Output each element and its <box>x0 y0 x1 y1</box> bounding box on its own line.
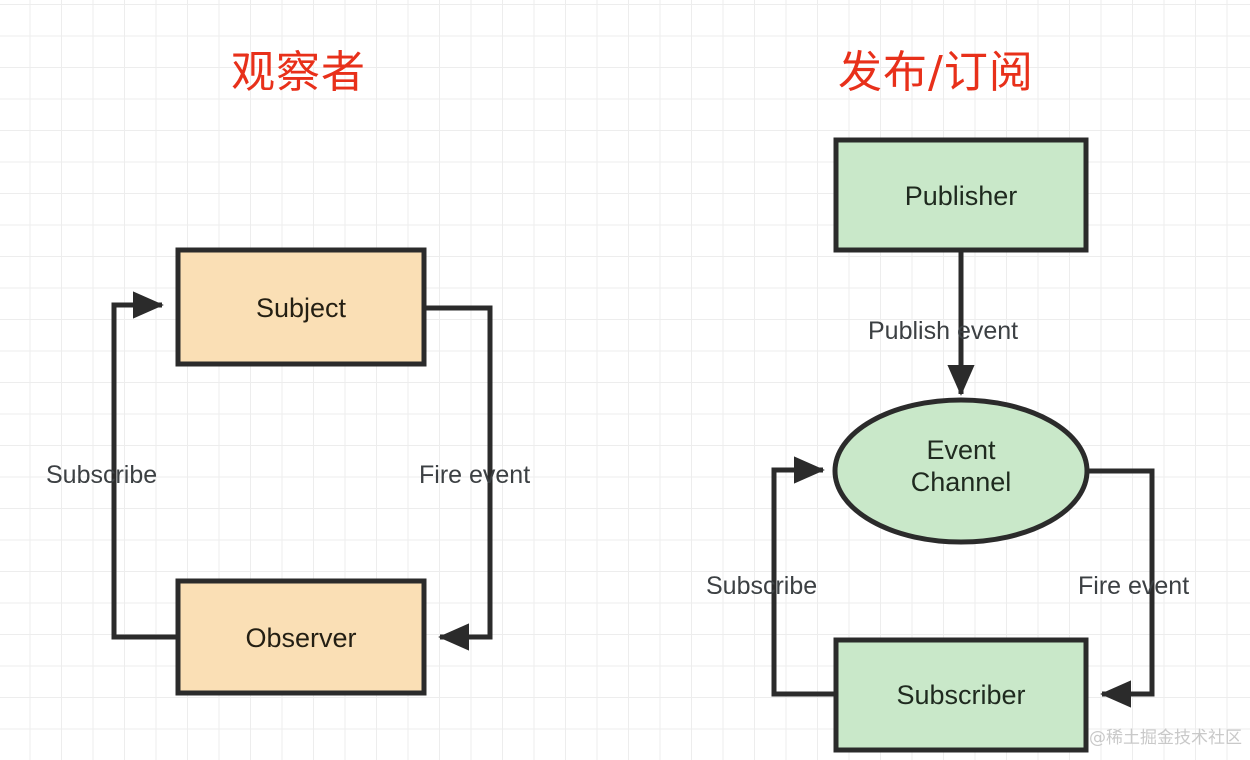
edge-label-subscribe-2: Subscribe <box>706 572 817 601</box>
node-subscriber[interactable] <box>836 640 1086 750</box>
node-event-channel[interactable] <box>835 400 1087 542</box>
edge-label-fire-event-2: Fire event <box>1078 572 1189 601</box>
edge-label-subscribe: Subscribe <box>46 461 157 490</box>
edge-label-publish-event: Publish event <box>868 317 1018 346</box>
title-observer: 观察者 <box>231 36 366 100</box>
edge-label-fire-event: Fire event <box>419 461 530 490</box>
watermark: @稀土掘金技术社区 <box>1089 723 1242 748</box>
pubsub-diagram-shapes <box>774 140 1152 750</box>
diagram-vector-layer <box>0 0 1250 760</box>
node-publisher[interactable] <box>836 140 1086 250</box>
diagram-canvas: 观察者 发布/订阅 Subject Observer Subscribe Fir… <box>0 0 1250 760</box>
node-observer[interactable] <box>178 581 424 693</box>
title-pubsub: 发布/订阅 <box>838 36 1034 100</box>
node-subject[interactable] <box>178 250 424 364</box>
